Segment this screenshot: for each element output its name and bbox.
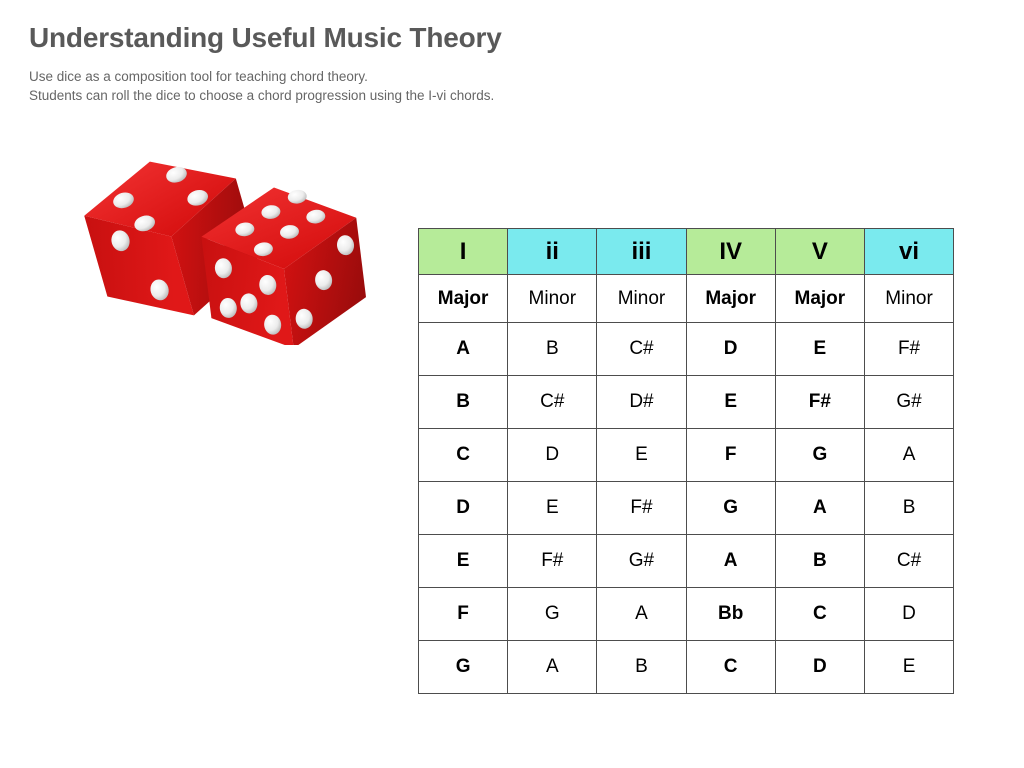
table-row: CDEFGA — [419, 429, 954, 482]
chord-quality-header-row: MajorMinorMinorMajorMajorMinor — [419, 275, 954, 323]
chord-cell: D — [864, 588, 953, 641]
chord-cell: D# — [597, 376, 686, 429]
table-row: ABC#DEF# — [419, 323, 954, 376]
chord-cell: F# — [864, 323, 953, 376]
chord-cell: B — [864, 482, 953, 535]
dice-pair-icon — [40, 125, 380, 345]
chord-quality-minor: Minor — [597, 275, 686, 323]
chord-quality-major: Major — [686, 275, 775, 323]
chord-cell: B — [775, 535, 864, 588]
roman-header-iii: iii — [597, 229, 686, 275]
chord-cell: E — [686, 376, 775, 429]
chord-cell: D — [775, 641, 864, 694]
subtitle-block: Use dice as a composition tool for teach… — [29, 67, 494, 105]
roman-header-iv: IV — [686, 229, 775, 275]
chord-quality-minor: Minor — [864, 275, 953, 323]
chord-cell: D — [686, 323, 775, 376]
table-row: DEF#GAB — [419, 482, 954, 535]
chord-cell: F — [686, 429, 775, 482]
chord-cell: B — [419, 376, 508, 429]
chord-cell: A — [597, 588, 686, 641]
chord-cell: E — [419, 535, 508, 588]
chord-cell: D — [508, 429, 597, 482]
table-row: GABCDE — [419, 641, 954, 694]
table-row: EF#G#ABC# — [419, 535, 954, 588]
roman-numeral-header-row: IiiiiiIVVvi — [419, 229, 954, 275]
chord-cell: G# — [864, 376, 953, 429]
chord-cell: F# — [597, 482, 686, 535]
chord-cell: C — [775, 588, 864, 641]
chord-cell: B — [508, 323, 597, 376]
roman-header-i: I — [419, 229, 508, 275]
chord-cell: Bb — [686, 588, 775, 641]
table-row: BC#D#EF#G# — [419, 376, 954, 429]
chord-cell: C# — [597, 323, 686, 376]
chord-cell: G — [508, 588, 597, 641]
chord-table: IiiiiiIVVvi MajorMinorMinorMajorMajorMin… — [418, 228, 954, 694]
chord-quality-major: Major — [775, 275, 864, 323]
chord-quality-minor: Minor — [508, 275, 597, 323]
subtitle-line-1: Use dice as a composition tool for teach… — [29, 67, 494, 86]
chord-table-body: ABC#DEF#BC#D#EF#G#CDEFGADEF#GABEF#G#ABC#… — [419, 323, 954, 694]
chord-cell: A — [686, 535, 775, 588]
chord-cell: F — [419, 588, 508, 641]
chord-cell: G — [419, 641, 508, 694]
roman-header-v: V — [775, 229, 864, 275]
chord-cell: E — [508, 482, 597, 535]
chord-cell: C# — [508, 376, 597, 429]
chord-cell: A — [508, 641, 597, 694]
chord-table-head: IiiiiiIVVvi MajorMinorMinorMajorMajorMin… — [419, 229, 954, 323]
chord-cell: C — [419, 429, 508, 482]
chord-cell: F# — [508, 535, 597, 588]
chord-quality-major: Major — [419, 275, 508, 323]
table-row: FGABbCD — [419, 588, 954, 641]
chord-cell: E — [775, 323, 864, 376]
chord-cell: E — [864, 641, 953, 694]
page-title: Understanding Useful Music Theory — [29, 22, 502, 54]
chord-cell: B — [597, 641, 686, 694]
chord-cell: G# — [597, 535, 686, 588]
roman-header-ii: ii — [508, 229, 597, 275]
chord-cell: F# — [775, 376, 864, 429]
chord-cell: A — [864, 429, 953, 482]
chord-cell: C# — [864, 535, 953, 588]
chord-cell: G — [775, 429, 864, 482]
chord-table-container: IiiiiiIVVvi MajorMinorMinorMajorMajorMin… — [418, 228, 954, 694]
chord-cell: A — [775, 482, 864, 535]
chord-cell: C — [686, 641, 775, 694]
chord-cell: D — [419, 482, 508, 535]
chord-cell: G — [686, 482, 775, 535]
subtitle-line-2: Students can roll the dice to choose a c… — [29, 86, 494, 105]
slide-canvas: Understanding Useful Music Theory Use di… — [0, 0, 1024, 768]
chord-cell: A — [419, 323, 508, 376]
roman-header-vi: vi — [864, 229, 953, 275]
chord-cell: E — [597, 429, 686, 482]
